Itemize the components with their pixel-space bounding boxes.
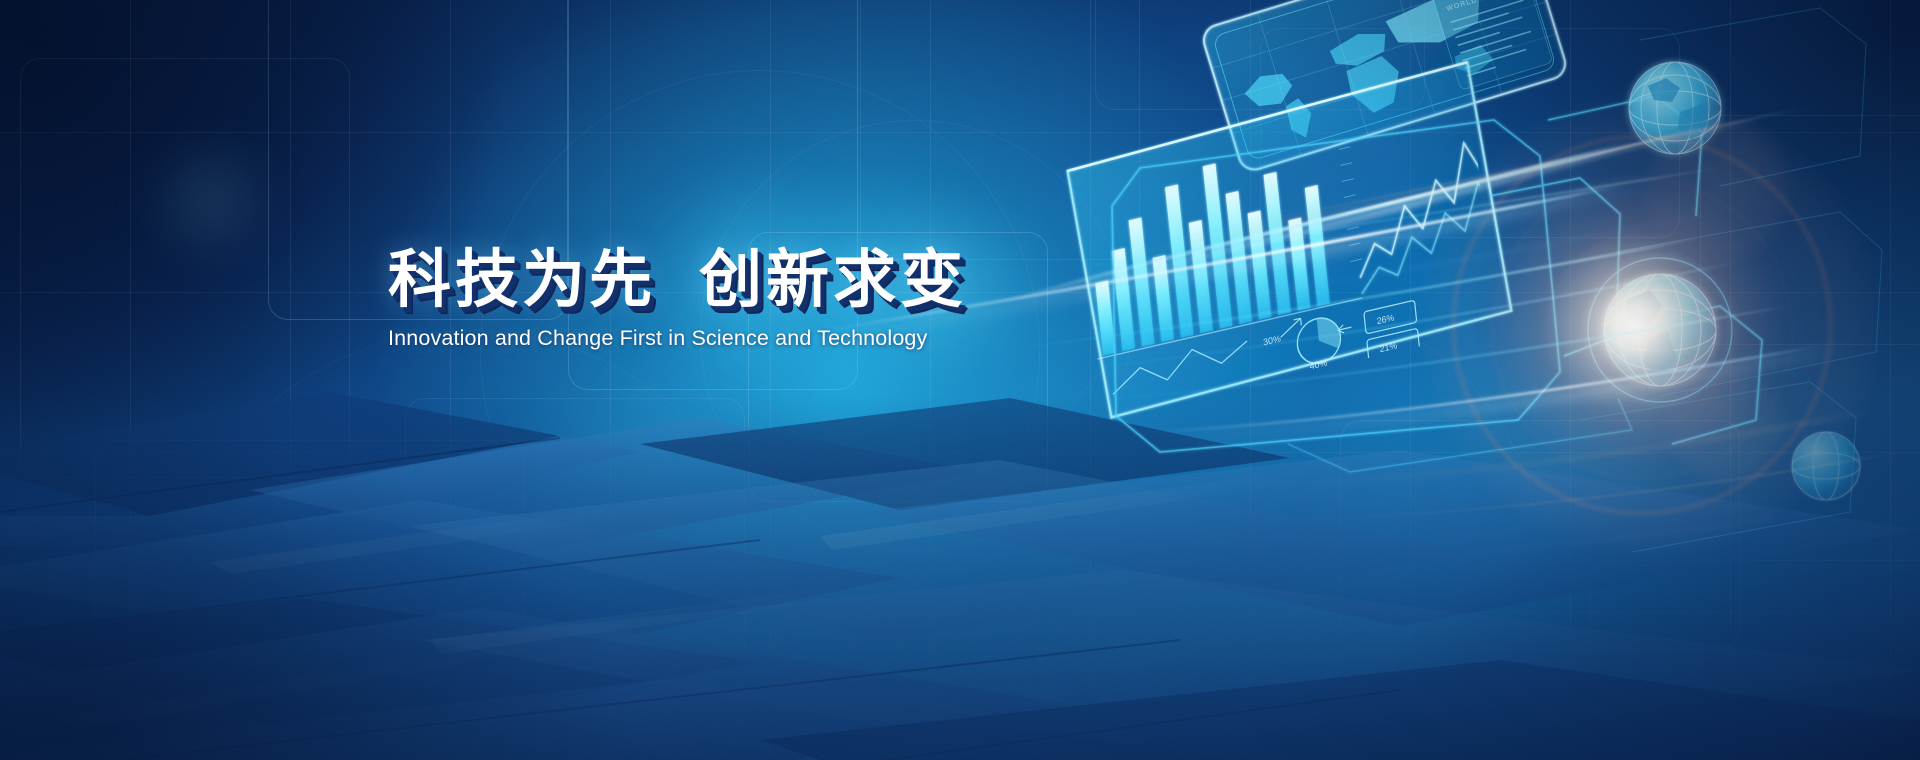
globe-1-sphere: [1629, 62, 1721, 154]
wire-base-platform: [1288, 398, 1632, 472]
holo-globe-small: [1792, 432, 1860, 500]
holo-globe-lower-right: [1588, 258, 1732, 402]
tech-hero-banner: ASIA WORLD MAP: [0, 0, 1920, 760]
holo-dashboard-panel: 40% 26% 21% 30%: [1066, 58, 1513, 425]
glow-blob-5: [150, 140, 270, 260]
subtitle-english: Innovation and Change First in Science a…: [388, 326, 908, 351]
headline-chinese: 科技为先 创新求变: [388, 248, 908, 312]
wire-outline-right: [1490, 178, 1620, 356]
holo-globe-upper-right: [1629, 62, 1721, 154]
hologram-graphic: ASIA WORLD MAP: [1020, 0, 1920, 600]
headline-block: 科技为先 创新求变 Innovation and Change First in…: [388, 248, 908, 351]
